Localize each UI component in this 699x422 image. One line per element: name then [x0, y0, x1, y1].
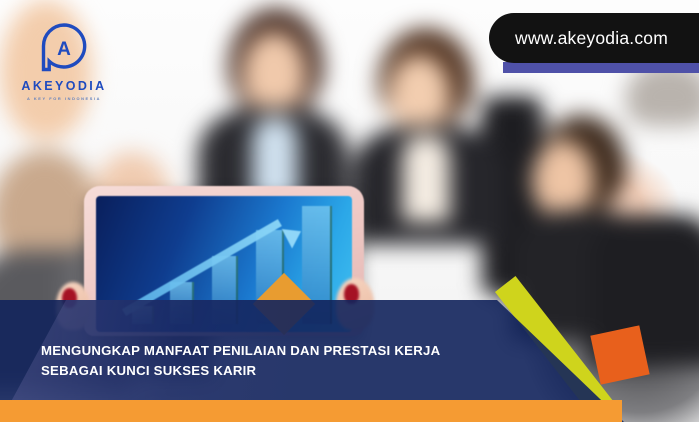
akeyodia-location-pin-a-icon: A	[38, 22, 90, 74]
orange-square-accent	[590, 325, 649, 384]
person-2-face	[388, 55, 450, 131]
brand-logo[interactable]: A AKEYODIA A KEY FOR INDONESIA	[18, 22, 110, 101]
bottom-orange-bar	[0, 400, 622, 422]
person-3-face	[532, 140, 594, 216]
headline-line-1: MENGUNGKAP MANFAAT PENILAIAN DAN PRESTAS…	[41, 341, 511, 361]
person-1-face	[242, 32, 306, 112]
url-banner-text: www.akeyodia.com	[515, 28, 668, 49]
svg-text:A: A	[57, 39, 71, 60]
brand-tagline: A KEY FOR INDONESIA	[18, 96, 110, 101]
person-2-shirt	[402, 136, 450, 222]
brand-name: AKEYODIA	[18, 79, 110, 93]
headline-line-2: SEBAGAI KUNCI SUKSES KARIR	[41, 361, 511, 381]
promo-banner: www.akeyodia.com A AKEYODIA A KEY FOR IN…	[0, 0, 699, 422]
url-banner-accent-strip	[503, 62, 699, 73]
page-title: MENGUNGKAP MANFAAT PENILAIAN DAN PRESTAS…	[41, 341, 511, 381]
url-banner[interactable]: www.akeyodia.com	[489, 13, 699, 63]
